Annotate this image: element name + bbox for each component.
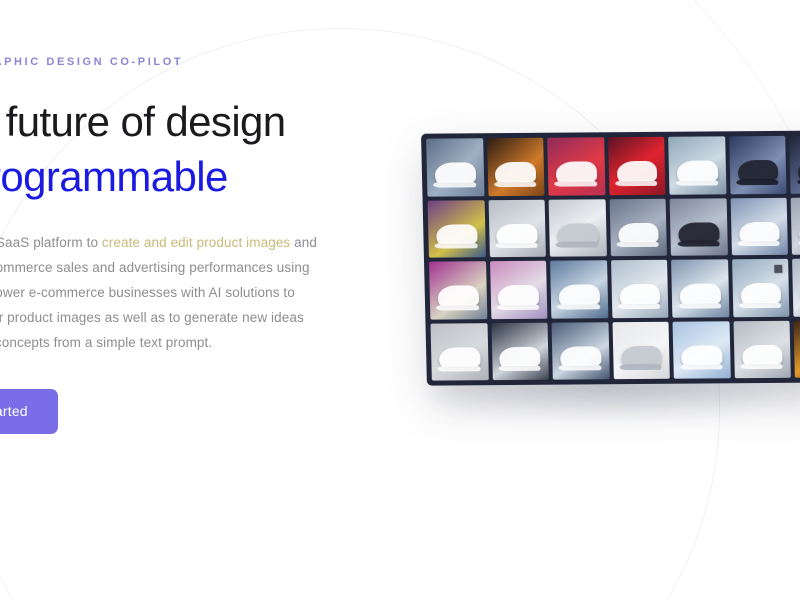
gallery-tile[interactable] bbox=[429, 261, 487, 319]
headline-line-2: is programmable bbox=[0, 149, 394, 204]
sneaker-shape bbox=[500, 346, 541, 366]
sneaker-shape bbox=[436, 224, 477, 244]
sneaker-shape bbox=[498, 285, 539, 305]
gallery-tile[interactable] bbox=[668, 136, 726, 194]
gallery-tile[interactable] bbox=[671, 259, 729, 317]
sneaker-shape bbox=[559, 284, 600, 304]
gallery-tile[interactable] bbox=[791, 197, 800, 255]
gallery-tile[interactable] bbox=[552, 322, 610, 380]
hero-content-column: YOUR GRAPHIC DESIGN CO-PILOT The future … bbox=[0, 0, 394, 600]
gallery-tile[interactable] bbox=[547, 137, 605, 195]
sneaker-shape bbox=[438, 285, 479, 305]
gallery-tile[interactable] bbox=[733, 320, 791, 378]
gallery-tile[interactable] bbox=[550, 260, 608, 318]
sneaker-shape bbox=[495, 162, 536, 182]
gallery-tile[interactable] bbox=[609, 198, 667, 256]
gallery-tile[interactable] bbox=[491, 322, 549, 380]
generated-image-gallery[interactable] bbox=[421, 130, 800, 385]
sneaker-shape bbox=[556, 161, 597, 181]
gallery-tile[interactable] bbox=[673, 321, 731, 379]
description-part-2: and improve e-commerce sales and adverti… bbox=[0, 235, 317, 350]
gallery-tile[interactable] bbox=[670, 198, 728, 256]
gallery-tile[interactable] bbox=[790, 135, 800, 193]
page-title: The future of design is programmable bbox=[0, 94, 394, 204]
sneaker-shape bbox=[680, 284, 721, 304]
sneaker-shape bbox=[677, 161, 718, 181]
sneaker-shape bbox=[740, 283, 781, 303]
hero-page: YOUR GRAPHIC DESIGN CO-PILOT The future … bbox=[0, 0, 800, 600]
gallery-tile[interactable] bbox=[794, 320, 800, 378]
sneaker-shape bbox=[742, 345, 783, 365]
gallery-tile[interactable] bbox=[730, 197, 788, 255]
sneaker-shape bbox=[737, 160, 778, 180]
sneaker-shape bbox=[678, 222, 719, 242]
sneaker-shape bbox=[739, 222, 780, 242]
gallery-tile[interactable] bbox=[549, 199, 607, 257]
gallery-tile[interactable] bbox=[430, 323, 488, 381]
sneaker-shape bbox=[619, 284, 660, 304]
get-started-button[interactable]: Get Started bbox=[0, 389, 58, 434]
gallery-tile[interactable] bbox=[792, 258, 800, 316]
description-part-1: Flair AI is a SaaS platform to bbox=[0, 235, 102, 250]
gallery-tile[interactable] bbox=[611, 260, 669, 318]
gallery-tile[interactable] bbox=[488, 199, 546, 257]
sneaker-shape bbox=[439, 347, 480, 367]
gallery-tile[interactable] bbox=[428, 200, 486, 258]
sneaker-shape bbox=[618, 223, 659, 243]
gallery-tile[interactable] bbox=[608, 137, 666, 195]
sneaker-shape bbox=[681, 345, 722, 365]
description-highlight: create and edit product images bbox=[102, 235, 290, 250]
sneaker-shape bbox=[497, 223, 538, 243]
sneaker-shape bbox=[557, 223, 598, 243]
sneaker-shape bbox=[621, 345, 662, 365]
sneaker-shape bbox=[616, 161, 657, 181]
tile-badge-icon[interactable] bbox=[774, 264, 784, 274]
gallery-tile[interactable] bbox=[487, 138, 545, 196]
gallery-tile[interactable] bbox=[732, 259, 790, 317]
sneaker-shape bbox=[435, 162, 476, 182]
gallery-tile[interactable] bbox=[612, 321, 670, 379]
gallery-tile[interactable] bbox=[426, 138, 484, 196]
gallery-tile[interactable] bbox=[490, 261, 548, 319]
headline-line-1: The future of design bbox=[0, 98, 286, 145]
sneaker-shape bbox=[560, 346, 601, 366]
hero-eyebrow: YOUR GRAPHIC DESIGN CO-PILOT bbox=[0, 54, 394, 70]
hero-description: Flair AI is a SaaS platform to create an… bbox=[0, 230, 324, 355]
gallery-grid[interactable] bbox=[421, 130, 800, 385]
gallery-tile[interactable] bbox=[729, 136, 787, 194]
